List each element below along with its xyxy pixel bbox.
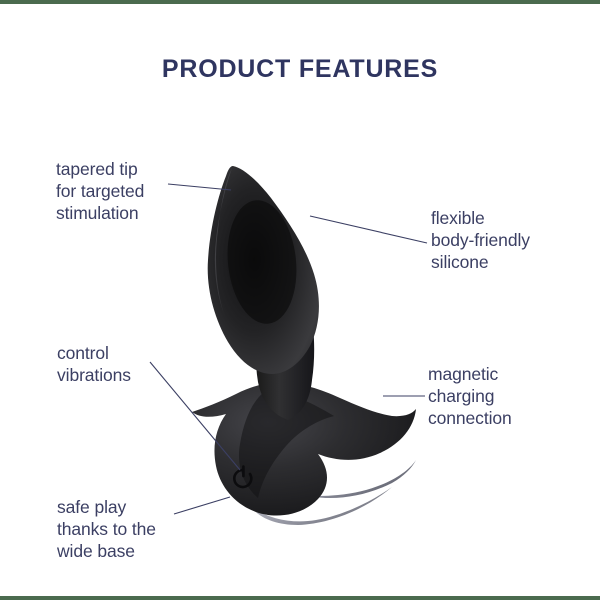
callout-control-vibrations: control vibrations: [57, 342, 131, 386]
callout-magnetic-charging: magnetic charging connection: [428, 363, 512, 429]
callout-safe-play: safe play thanks to the wide base: [57, 496, 156, 562]
callout-tapered-tip: tapered tip for targeted stimulation: [56, 158, 144, 224]
callout-flexible-silicone: flexible body-friendly silicone: [431, 207, 530, 273]
infographic-canvas: PRODUCT FEATURES: [0, 0, 600, 600]
